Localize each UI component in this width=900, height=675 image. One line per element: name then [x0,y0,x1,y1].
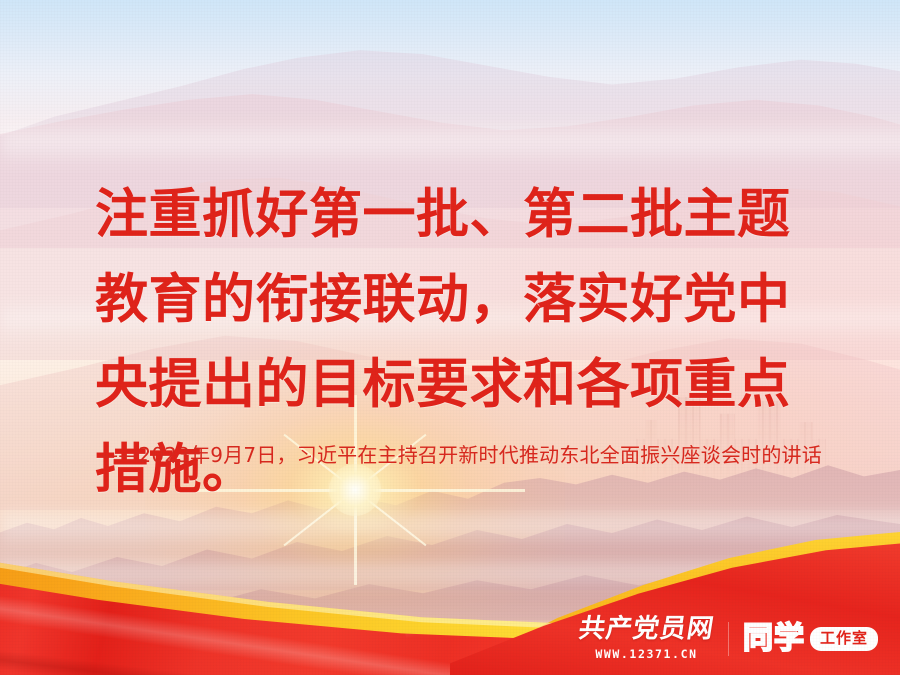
brand-site-name: 共产党员网 [577,616,716,642]
brand-logo[interactable]: 共产党员网 WWW.12371.CN 同学 工作室 [579,616,878,661]
brand-logo-site[interactable]: 共产党员网 WWW.12371.CN [579,616,714,661]
brand-logo-studio[interactable]: 同学 工作室 [743,624,878,654]
mist-band-1 [0,120,900,166]
studio-name: 同学 [743,624,805,654]
bottom-ribbon: 共产党员网 WWW.12371.CN 同学 工作室 [0,475,900,675]
quote-attribution: ——2023年9月7日，习近平在主持召开新时代推动东北全面振兴座谈会时的讲话 [98,438,843,473]
logo-divider [728,622,729,656]
poster-canvas: 注重抓好第一批、第二批主题教育的衔接联动，落实好党中央提出的目标要求和各项重点措… [0,0,900,675]
brand-site-url: WWW.12371.CN [595,647,697,661]
studio-badge: 工作室 [810,627,878,651]
